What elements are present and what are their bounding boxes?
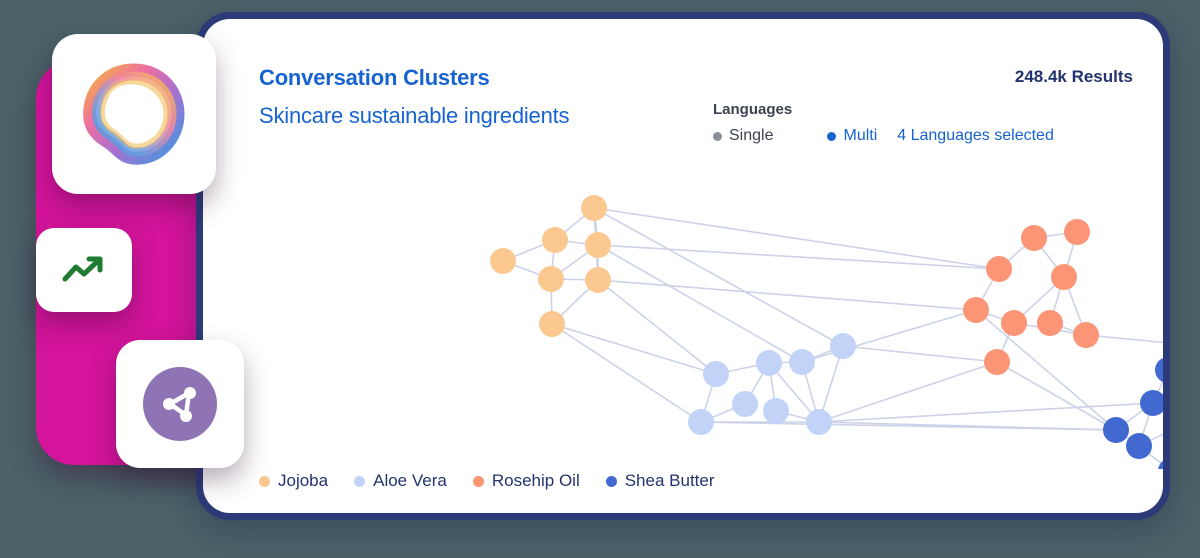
- rosehip-oil-color-swatch-icon: [473, 476, 484, 487]
- languages-legend: Languages Single Multi 4 Languages selec…: [713, 101, 1054, 145]
- single-dot-icon: [713, 132, 722, 141]
- graph-node[interactable]: [1021, 225, 1047, 251]
- graph-node[interactable]: [984, 349, 1010, 375]
- graph-edge: [802, 310, 976, 362]
- cluster-graph-svg[interactable]: [203, 169, 1163, 469]
- graph-node[interactable]: [703, 361, 729, 387]
- languages-heading: Languages: [713, 101, 1054, 118]
- shea-butter-color-swatch-icon: [606, 476, 617, 487]
- graph-node[interactable]: [538, 266, 564, 292]
- graph-edge: [598, 245, 999, 269]
- trending-tile[interactable]: [36, 228, 132, 312]
- jojoba-color-swatch-icon: [259, 476, 270, 487]
- brand-logo-tile[interactable]: [52, 34, 216, 194]
- graph-node[interactable]: [490, 248, 516, 274]
- legend-item-jojoba[interactable]: Jojoba: [259, 471, 328, 491]
- graph-edge: [594, 208, 999, 269]
- graph-edge: [819, 422, 1116, 430]
- legend-item-rosehip-oil[interactable]: Rosehip Oil: [473, 471, 580, 491]
- language-option-multi-label: Multi: [843, 127, 877, 145]
- graph-node[interactable]: [1140, 390, 1163, 416]
- network-icon-circle: [143, 367, 217, 441]
- graph-edge: [598, 280, 716, 374]
- graph-edge: [552, 324, 716, 374]
- page-title: Conversation Clusters: [259, 65, 490, 91]
- graph-node[interactable]: [756, 350, 782, 376]
- graph-node[interactable]: [789, 349, 815, 375]
- graph-node[interactable]: [688, 409, 714, 435]
- graph-node[interactable]: [732, 391, 758, 417]
- language-option-single-label: Single: [729, 127, 773, 145]
- legend-item-rosehip-oil-label: Rosehip Oil: [492, 471, 580, 491]
- graph-node[interactable]: [806, 409, 832, 435]
- graph-edge: [552, 324, 701, 422]
- page-subtitle: Skincare sustainable ingredients: [259, 103, 569, 129]
- cluster-legend: Jojoba Aloe Vera Rosehip Oil Shea Butter: [259, 471, 715, 491]
- graph-edge: [594, 208, 843, 346]
- multi-dot-icon: [827, 132, 836, 141]
- graph-node[interactable]: [581, 195, 607, 221]
- graph-node[interactable]: [1001, 310, 1027, 336]
- graph-node[interactable]: [1155, 357, 1163, 383]
- graph-node[interactable]: [763, 398, 789, 424]
- graph-node[interactable]: [1073, 322, 1099, 348]
- graph-edge: [843, 346, 997, 362]
- language-option-multi[interactable]: Multi: [827, 127, 877, 145]
- screen: Conversation Clusters Skincare sustainab…: [0, 0, 1200, 558]
- network-tile[interactable]: [116, 340, 244, 468]
- conversation-clusters-card: Conversation Clusters Skincare sustainab…: [196, 12, 1170, 520]
- graph-edge: [598, 280, 976, 310]
- graph-edge: [997, 362, 1116, 430]
- aloe-vera-color-swatch-icon: [354, 476, 365, 487]
- graph-node[interactable]: [539, 311, 565, 337]
- legend-item-aloe-vera-label: Aloe Vera: [373, 471, 447, 491]
- graph-node[interactable]: [1064, 219, 1090, 245]
- legend-item-shea-butter-label: Shea Butter: [625, 471, 715, 491]
- results-count: 248.4k Results: [1015, 67, 1133, 87]
- network-share-icon: [158, 382, 202, 426]
- graph-node[interactable]: [1158, 458, 1163, 469]
- graph-node[interactable]: [1051, 264, 1077, 290]
- graph-node[interactable]: [585, 267, 611, 293]
- trending-up-icon: [62, 255, 106, 285]
- gradient-ring-logo-icon: [82, 62, 186, 166]
- graph-node[interactable]: [1037, 310, 1063, 336]
- legend-item-jojoba-label: Jojoba: [278, 471, 328, 491]
- graph-node[interactable]: [1126, 433, 1152, 459]
- languages-selected-link[interactable]: 4 Languages selected: [897, 127, 1054, 145]
- legend-item-shea-butter[interactable]: Shea Butter: [606, 471, 715, 491]
- graph-node[interactable]: [986, 256, 1012, 282]
- graph-node[interactable]: [830, 333, 856, 359]
- cluster-graph[interactable]: [203, 169, 1163, 469]
- graph-node[interactable]: [585, 232, 611, 258]
- language-option-single[interactable]: Single: [713, 127, 773, 145]
- graph-node[interactable]: [1103, 417, 1129, 443]
- graph-node[interactable]: [542, 227, 568, 253]
- graph-node[interactable]: [963, 297, 989, 323]
- legend-item-aloe-vera[interactable]: Aloe Vera: [354, 471, 447, 491]
